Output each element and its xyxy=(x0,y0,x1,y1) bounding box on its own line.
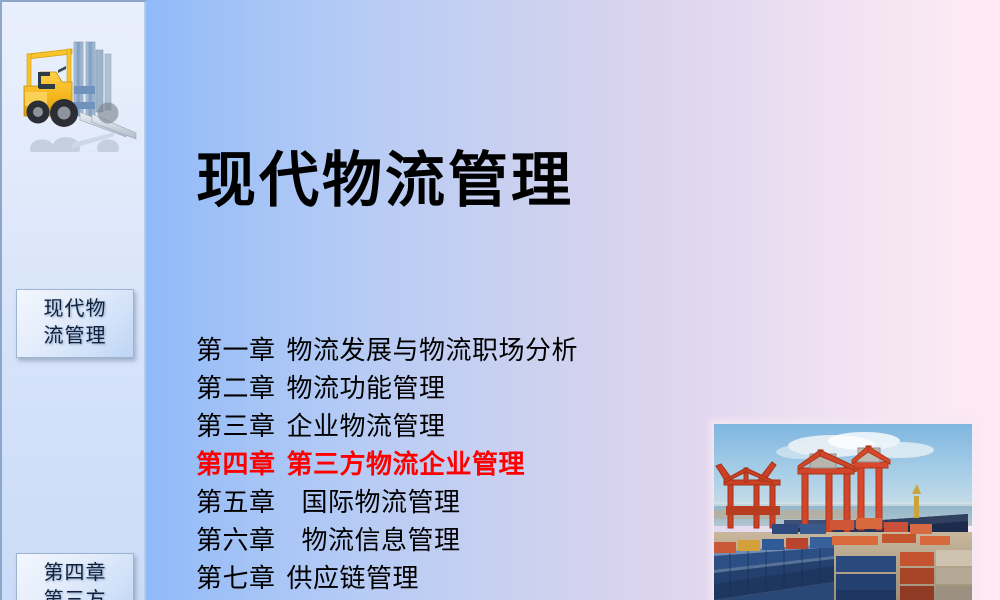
chapter-list-item[interactable]: 第四章第三方物流企业管理 xyxy=(196,446,716,484)
chapter-number: 第五章 xyxy=(196,488,276,517)
chapter-list: 第一章物流发展与物流职场分析第二章物流功能管理第三章企业物流管理第四章第三方物流… xyxy=(196,332,716,598)
chapter-title: 物流信息管理 xyxy=(302,526,461,555)
chapter-number: 第四章 xyxy=(196,450,276,479)
chapter-number: 第二章 xyxy=(196,374,276,403)
chapter-list-item[interactable]: 第六章物流信息管理 xyxy=(196,522,716,560)
chapter-list-item[interactable]: 第三章企业物流管理 xyxy=(196,408,716,446)
container-port-photo xyxy=(714,424,972,600)
chapter-list-item[interactable]: 第五章国际物流管理 xyxy=(196,484,716,522)
sidebar-divider xyxy=(144,2,146,600)
forklift-icon xyxy=(8,24,144,152)
sidebar-item-chapter-4-line-1: 第四章 xyxy=(19,560,131,587)
chapter-list-item[interactable]: 第二章物流功能管理 xyxy=(196,370,716,408)
chapter-number: 第七章 xyxy=(196,564,276,593)
chapter-title: 国际物流管理 xyxy=(302,488,461,517)
sidebar-item-course[interactable]: 现代物 流管理 xyxy=(16,289,134,358)
chapter-list-item[interactable]: 第一章物流发展与物流职场分析 xyxy=(196,332,716,370)
chapter-title: 供应链管理 xyxy=(287,564,420,593)
sidebar-item-chapter-4[interactable]: 第四章 第三方 xyxy=(16,553,134,600)
sidebar-item-chapter-4-line-2: 第三方 xyxy=(19,587,131,600)
presentation-slide: 现代物 流管理 第四章 第三方 现代物流管理 第一章物流发展与物流职场分析第二章… xyxy=(0,0,1000,600)
sidebar-item-course-line-2: 流管理 xyxy=(19,323,131,350)
chapter-title: 物流发展与物流职场分析 xyxy=(287,336,579,365)
chapter-number: 第三章 xyxy=(196,412,276,441)
sidebar: 现代物 流管理 第四章 第三方 xyxy=(0,0,146,600)
chapter-number: 第六章 xyxy=(196,526,276,555)
chapter-title: 企业物流管理 xyxy=(287,412,446,441)
chapter-number: 第一章 xyxy=(196,336,276,365)
page-title: 现代物流管理 xyxy=(196,145,574,217)
chapter-list-item[interactable]: 第七章供应链管理 xyxy=(196,560,716,598)
chapter-title: 第三方物流企业管理 xyxy=(287,450,526,479)
sidebar-item-course-line-1: 现代物 xyxy=(19,296,131,323)
chapter-title: 物流功能管理 xyxy=(287,374,446,403)
